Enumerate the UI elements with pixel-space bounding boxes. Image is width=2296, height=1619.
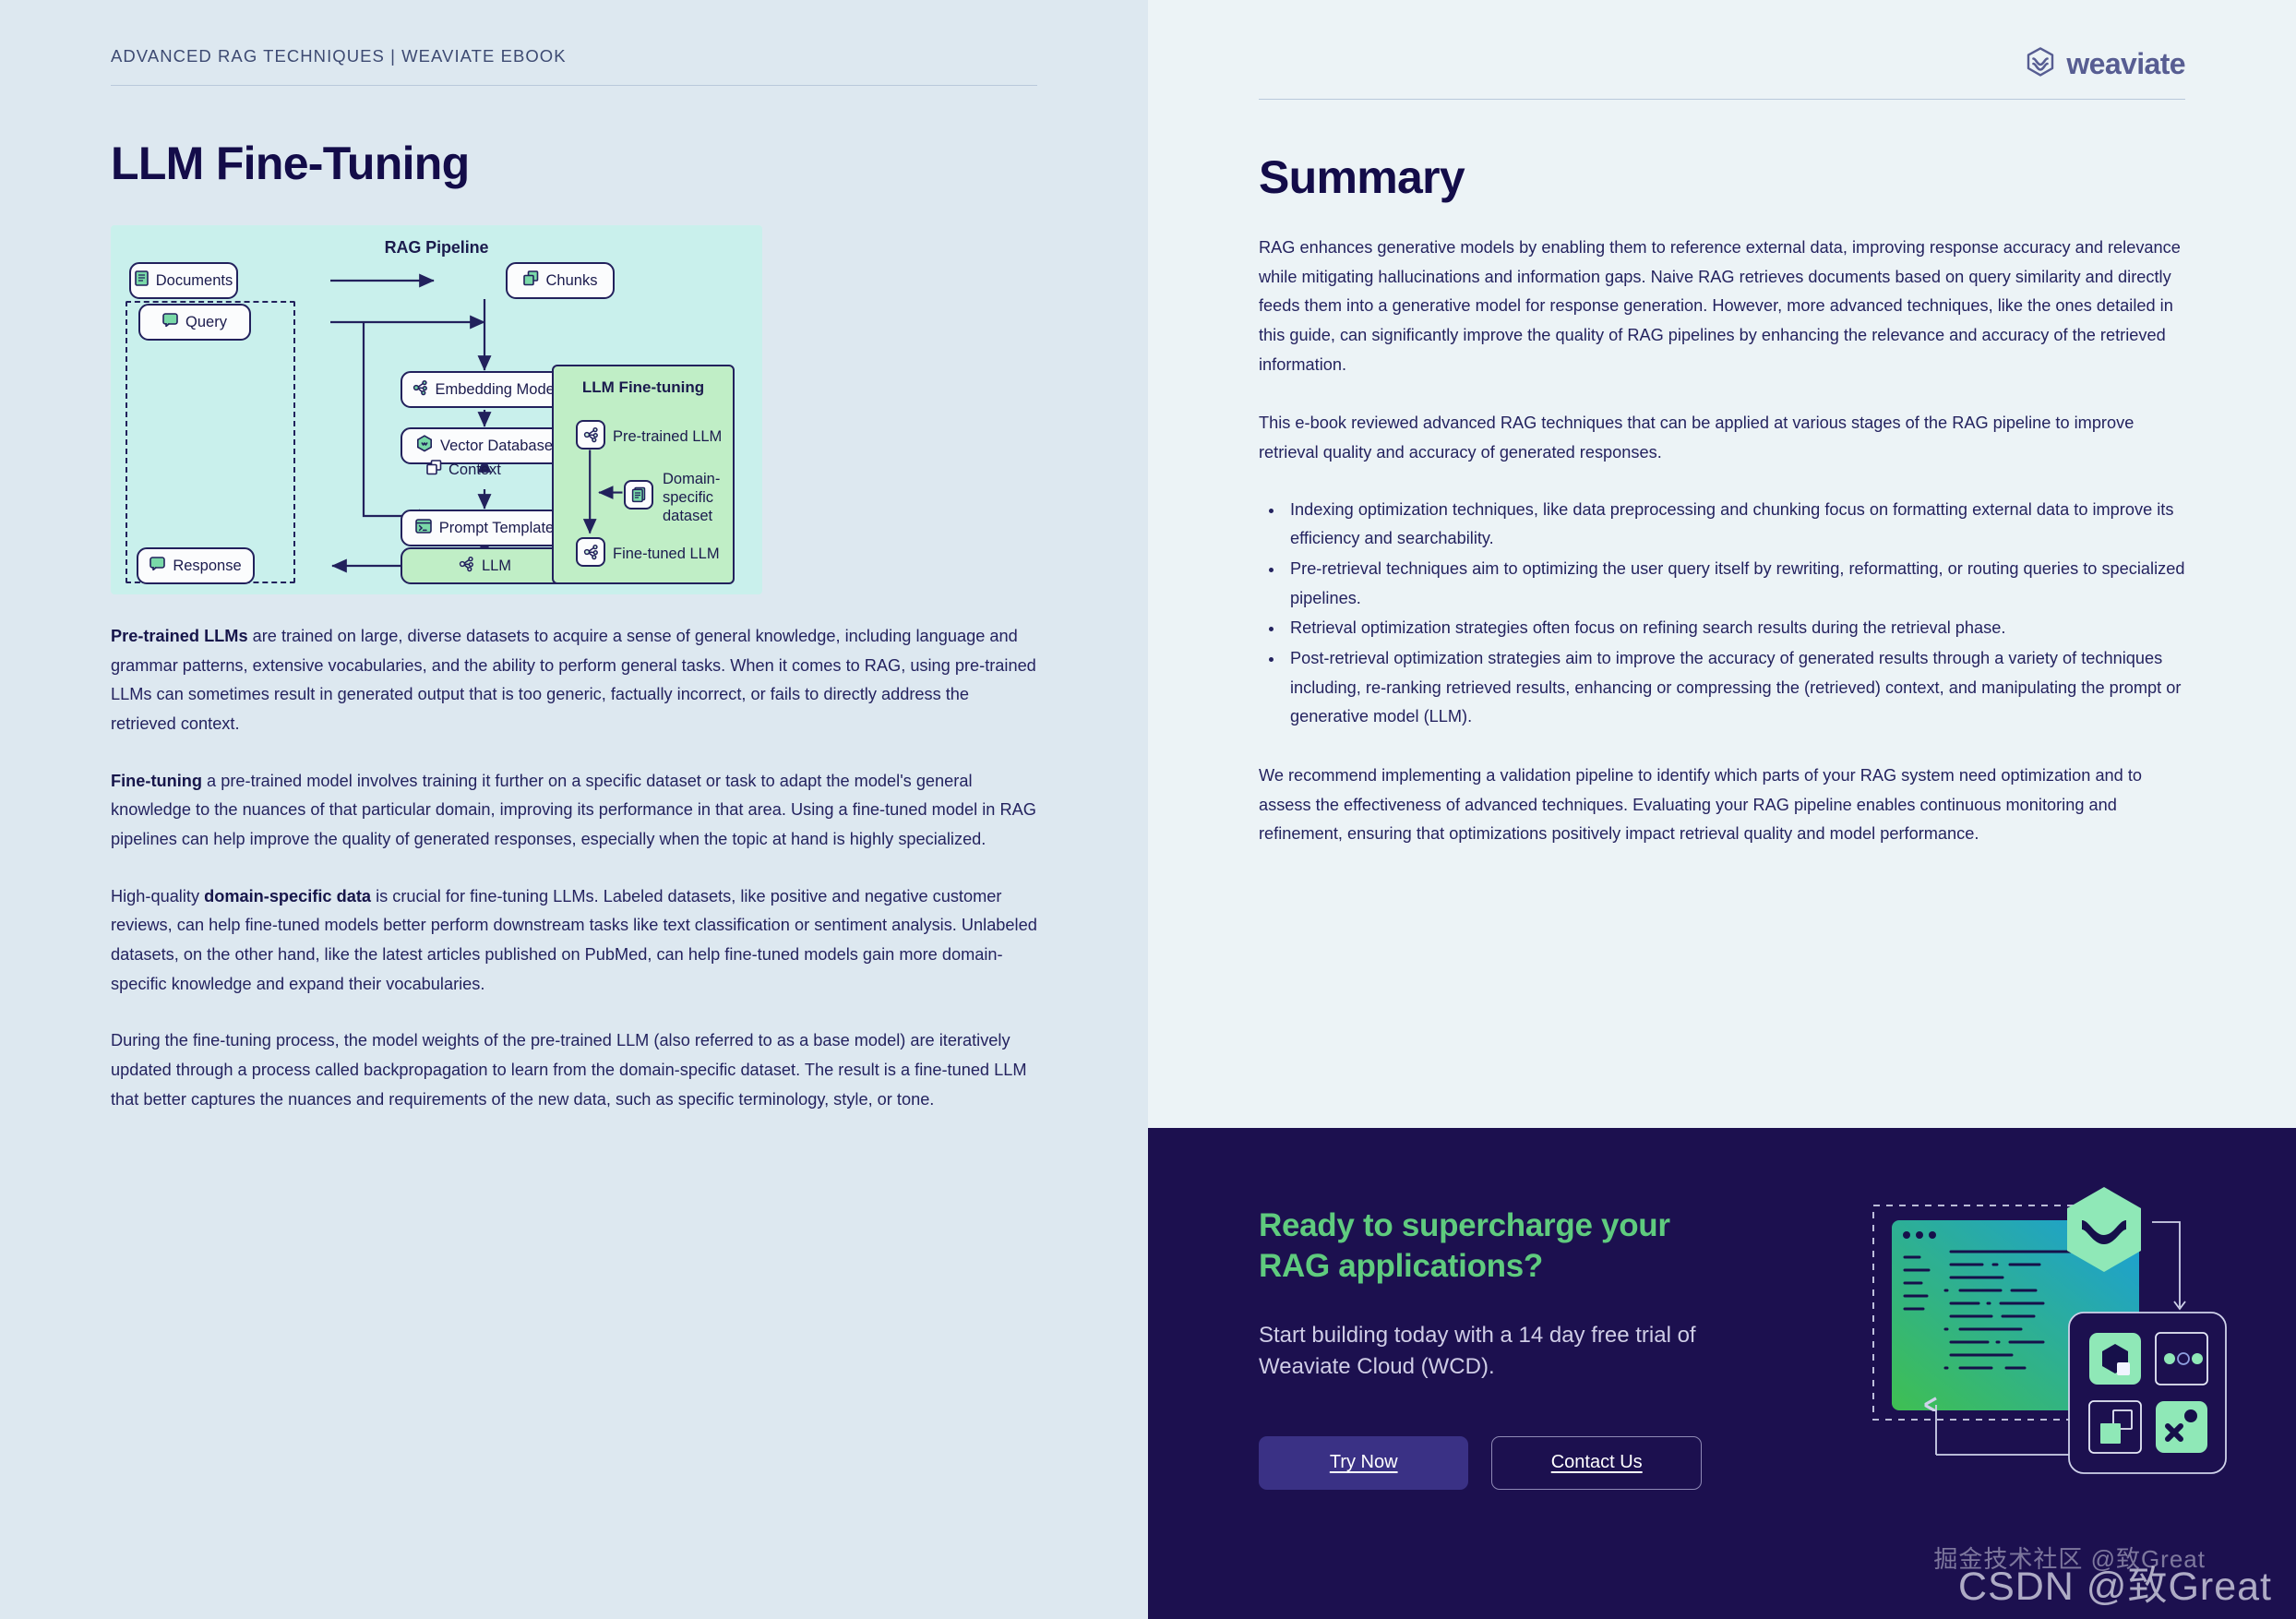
paragraph-lead: domain-specific data	[204, 887, 371, 905]
list-item: Post-retrieval optimization strategies a…	[1285, 644, 2185, 732]
node-label: Response	[173, 558, 241, 575]
rag-pipeline-diagram: RAG Pipeline	[111, 225, 762, 594]
left-body-copy: Pre-trained LLMs are trained on large, d…	[111, 622, 1037, 1114]
chat-bubble-icon	[149, 557, 165, 575]
summary-paragraph-1: RAG enhances generative models by enabli…	[1259, 234, 2185, 379]
document-icon	[135, 270, 149, 291]
model-graph-icon	[458, 556, 474, 577]
paragraph-text: a pre-trained model involves training it…	[111, 772, 1036, 848]
node-label: Prompt Template	[439, 520, 554, 537]
node-chunks[interactable]: Chunks	[506, 262, 615, 299]
page-header-left: ADVANCED RAG TECHNIQUES | WEAVIATE EBOOK	[111, 46, 1037, 86]
paragraph-fine-tuning: Fine-tuning a pre-trained model involves…	[111, 767, 1037, 855]
context-label-text: Context	[448, 462, 501, 479]
paragraph-text: are trained on large, diverse datasets t…	[111, 627, 1036, 733]
list-item: Indexing optimization techniques, like d…	[1285, 496, 2185, 554]
chip-pre-trained-llm[interactable]	[576, 420, 605, 450]
hexagon-db-icon	[416, 435, 433, 457]
model-graph-icon	[412, 379, 428, 401]
right-page: weaviate Summary RAG enhances generative…	[1148, 0, 2296, 1619]
header-eyebrow: ADVANCED RAG TECHNIQUES | WEAVIATE EBOOK	[111, 46, 567, 66]
summary-paragraph-2: This e-book reviewed advanced RAG techni…	[1259, 409, 2185, 467]
chip-fine-tuned-llm[interactable]	[576, 537, 605, 567]
node-prompt-template[interactable]: Prompt Template	[401, 510, 568, 546]
paragraph-lead: Pre-trained LLMs	[111, 627, 248, 645]
weaviate-logo-icon	[2025, 46, 2056, 82]
page-title-right: Summary	[1259, 150, 2185, 204]
weaviate-logo: weaviate	[2025, 46, 2185, 82]
right-body-copy: RAG enhances generative models by enabli…	[1259, 204, 2185, 849]
cta-banner: Ready to supercharge your RAG applicatio…	[1148, 1128, 2296, 1619]
contact-us-button[interactable]: Contact Us	[1491, 1436, 1702, 1490]
logo-wordmark: weaviate	[2066, 47, 2185, 81]
cta-button-group: Try Now Contact Us	[1259, 1436, 1702, 1490]
try-now-button[interactable]: Try Now	[1259, 1436, 1468, 1490]
watermark-primary: CSDN @致Great	[1958, 1554, 2272, 1612]
context-edge-label: Context	[426, 460, 501, 480]
summary-bullet-list: Indexing optimization techniques, like d…	[1285, 496, 2185, 732]
page-header-right: weaviate	[1259, 46, 2185, 100]
model-graph-icon	[582, 426, 599, 443]
paragraph-domain-specific-data: High-quality domain-specific data is cru…	[111, 882, 1037, 1000]
chunks-icon	[523, 270, 539, 291]
node-label: Query	[185, 314, 227, 331]
weaviate-cloud-illustration	[1862, 1167, 2231, 1522]
page-title-left: LLM Fine-Tuning	[111, 137, 1037, 190]
label-domain-specific-dataset: Domain- specific dataset	[663, 470, 720, 525]
model-graph-icon	[582, 544, 599, 560]
node-embedding-model[interactable]: Embedding Model	[401, 371, 568, 408]
llm-finetuning-box: LLM Fine-tuning Pre-trained LLM	[552, 365, 735, 584]
summary-paragraph-3: We recommend implementing a validation p…	[1259, 762, 2185, 849]
node-label: Chunks	[546, 272, 598, 290]
chip-domain-specific-dataset[interactable]	[624, 480, 653, 510]
node-label: LLM	[482, 558, 511, 575]
cta-subheading: Start building today with a 14 day free …	[1259, 1320, 1702, 1383]
node-response[interactable]: Response	[137, 547, 255, 584]
node-documents[interactable]: Documents	[129, 262, 238, 299]
paragraph-pretext: High-quality	[111, 887, 204, 905]
chat-bubble-icon	[162, 313, 178, 331]
node-llm[interactable]: LLM	[401, 547, 568, 584]
node-query[interactable]: Query	[138, 304, 251, 341]
paragraph-backpropagation: During the fine-tuning process, the mode…	[111, 1026, 1037, 1114]
paragraph-pre-trained-llms: Pre-trained LLMs are trained on large, d…	[111, 622, 1037, 739]
node-label: Vector Database	[440, 438, 553, 455]
left-page: ADVANCED RAG TECHNIQUES | WEAVIATE EBOOK…	[0, 0, 1148, 1619]
watermark-secondary: 掘金技术社区 @致Great	[1933, 1541, 2206, 1575]
paragraph-text: During the fine-tuning process, the mode…	[111, 1031, 1026, 1108]
paragraph-lead: Fine-tuning	[111, 772, 202, 790]
chunks-icon	[426, 460, 442, 480]
list-item: Retrieval optimization strategies often …	[1285, 614, 2185, 643]
list-item: Pre-retrieval techniques aim to optimizi…	[1285, 555, 2185, 613]
node-label: Documents	[156, 272, 233, 290]
node-label: Embedding Model	[436, 381, 558, 399]
cta-content: Ready to supercharge your RAG applicatio…	[1148, 1128, 1702, 1619]
cta-heading: Ready to supercharge your RAG applicatio…	[1259, 1205, 1702, 1287]
label-pre-trained-llm: Pre-trained LLM	[613, 427, 722, 446]
dataset-stack-icon	[630, 486, 647, 503]
label-fine-tuned-llm: Fine-tuned LLM	[613, 545, 720, 563]
terminal-icon	[415, 519, 432, 538]
node-vector-database[interactable]: Vector Database	[401, 427, 568, 464]
